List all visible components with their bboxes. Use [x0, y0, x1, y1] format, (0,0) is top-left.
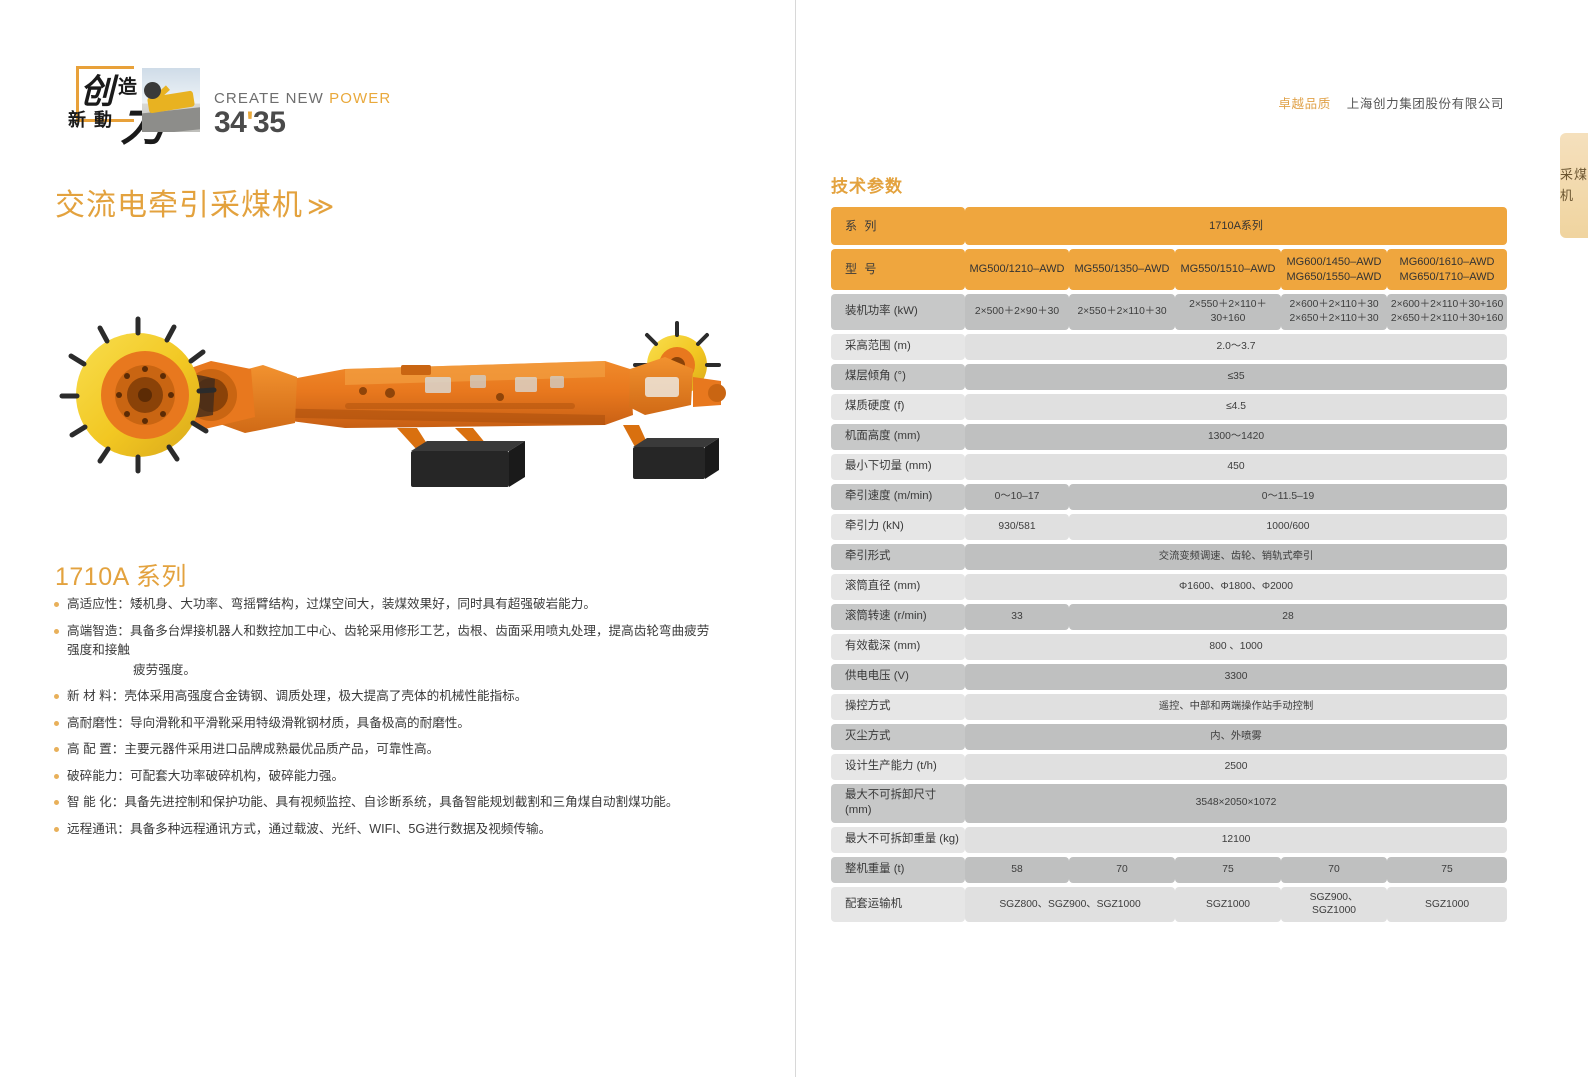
spec-table-row: 灭尘方式内、外喷雾	[831, 724, 1507, 750]
spec-row-label: 有效截深 (mm)	[831, 634, 965, 660]
bullet-dot-icon	[54, 694, 59, 699]
feature-item: 新 材 料：壳体采用高强度合金铸钢、调质处理，极大提高了壳体的机械性能指标。	[54, 687, 714, 707]
logo-calligraphy-mark: 创 造 新 動 力	[58, 62, 200, 140]
spec-row-value: 1300～1420	[965, 424, 1507, 450]
feature-item: 高适应性：矮机身、大功率、弯摇臂结构，过煤空间大，装煤效果好，同时具有超强破岩能…	[54, 595, 714, 615]
spec-model-cell: MG550/1350–AWD	[1069, 249, 1175, 290]
spec-row-value: ≤4.5	[965, 394, 1507, 420]
logo-char-xin: 新	[68, 106, 86, 132]
brand-logo: 创 造 新 動 力 CREATE NEW POWER 34'35	[58, 62, 391, 140]
page-number-right: 35	[253, 106, 285, 139]
spec-table-row: 牵引力 (kN)930/5811000/600	[831, 514, 1507, 540]
feature-item: 高耐磨性：导向滑靴和平滑靴采用特级滑靴钢材质，具备极高的耐磨性。	[54, 714, 714, 734]
spec-table-row: 牵引形式交流变频调速、齿轮、销轨式牵引	[831, 544, 1507, 570]
bullet-dot-icon	[54, 602, 59, 607]
spec-value-series: 1710A系列	[965, 207, 1507, 245]
feature-text: 远程通讯：具备多种远程通讯方式，通过载波、光纤、WIFI、5G进行数据及视频传输…	[67, 820, 714, 840]
bullet-dot-icon	[54, 774, 59, 779]
spread-divider	[795, 0, 796, 1077]
section-tab-shearer[interactable]: 采煤机	[1560, 133, 1588, 238]
bullet-dot-icon	[54, 827, 59, 832]
spec-table-row: 最小下切量 (mm)450	[831, 454, 1507, 480]
spec-row-series: 系 列 1710A系列	[831, 207, 1507, 245]
spec-model-cell: MG600/1610–AWDMG650/1710–AWD	[1387, 249, 1507, 290]
spec-table-row: 整机重量 (t)5870757075	[831, 857, 1507, 883]
bullet-dot-icon	[54, 629, 59, 634]
feature-item: 高端智造：具备多台焊接机器人和数控加工中心、齿轮采用修形工艺，齿根、齿面采用喷丸…	[54, 622, 714, 681]
quality-slogan: 卓越品质	[1278, 97, 1330, 111]
spec-row-label: 操控方式	[831, 694, 965, 720]
spec-table-row: 牵引速度 (m/min)0～10–170～11.5–19	[831, 484, 1507, 510]
spec-row-label: 牵引力 (kN)	[831, 514, 965, 540]
spec-row-label: 滚筒直径 (mm)	[831, 574, 965, 600]
feature-item: 高 配 置：主要元器件采用进口品牌成熟最优品质产品，可靠性高。	[54, 740, 714, 760]
spec-row-value: 450	[965, 454, 1507, 480]
spec-row-label: 灭尘方式	[831, 724, 965, 750]
spec-row-label: 最大不可拆卸尺寸 (mm)	[831, 784, 965, 823]
spec-row-label: 煤层倾角 (°)	[831, 364, 965, 390]
spec-row-label: 牵引形式	[831, 544, 965, 570]
spec-row-value: 2500	[965, 754, 1507, 780]
spec-row-value: 2×550＋2×110＋30+160	[1175, 294, 1281, 330]
shearer-machine-illustration	[45, 265, 745, 500]
feature-text: 智 能 化：具备先进控制和保护功能、具有视频监控、自诊断系统，具备智能规划截割和…	[67, 793, 714, 813]
spec-row-value: 交流变频调速、齿轮、销轨式牵引	[965, 544, 1507, 570]
spec-model-cell: MG600/1450–AWDMG650/1550–AWD	[1281, 249, 1387, 290]
tagline-create: CREATE NEW	[214, 90, 329, 107]
spec-row-value: SGZ1000	[1175, 887, 1281, 923]
spec-table-row: 最大不可拆卸重量 (kg)12100	[831, 827, 1507, 853]
spec-row-label: 煤质硬度 (f)	[831, 394, 965, 420]
spec-row-label: 最小下切量 (mm)	[831, 454, 965, 480]
spec-table-row: 煤质硬度 (f)≤4.5	[831, 394, 1507, 420]
spec-row-label: 采高范围 (m)	[831, 334, 965, 360]
feature-item: 破碎能力：可配套大功率破碎机构，破碎能力强。	[54, 767, 714, 787]
chevron-right-icon: ≫	[307, 191, 335, 221]
spec-row-value: 2×600＋2×110＋30+1602×650＋2×110＋30+160	[1387, 294, 1507, 330]
spec-row-value: 28	[1069, 604, 1507, 630]
spec-row-value: 12100	[965, 827, 1507, 853]
spec-table-row: 机面高度 (mm)1300～1420	[831, 424, 1507, 450]
spec-row-value: 3548×2050×1072	[965, 784, 1507, 823]
spec-table-title: 技术参数	[831, 172, 903, 197]
spec-row-value: 0～10–17	[965, 484, 1069, 510]
bullet-dot-icon	[54, 721, 59, 726]
section-tab-label: 采煤机	[1560, 165, 1588, 205]
spec-row-label: 整机重量 (t)	[831, 857, 965, 883]
spec-row-value: 75	[1175, 857, 1281, 883]
tagline-power: POWER	[329, 90, 391, 107]
feature-text-continued: 疲劳强度。	[67, 661, 714, 681]
catalog-page: 创 造 新 動 力 CREATE NEW POWER 34'35 卓越品质上海创…	[0, 0, 1588, 1077]
spec-row-value: 2×600＋2×110＋302×650＋2×110＋30	[1281, 294, 1387, 330]
spec-row-value: 1000/600	[1069, 514, 1507, 540]
spec-row-value: 内、外喷雾	[965, 724, 1507, 750]
feature-text: 高适应性：矮机身、大功率、弯摇臂结构，过煤空间大，装煤效果好，同时具有超强破岩能…	[67, 595, 714, 615]
spec-row-value: SGZ800、SGZ900、SGZ1000	[965, 887, 1175, 923]
spec-model-cell: MG500/1210–AWD	[965, 249, 1069, 290]
company-name: 上海创力集团股份有限公司	[1347, 97, 1504, 111]
spec-row-label: 设计生产能力 (t/h)	[831, 754, 965, 780]
feature-text: 新 材 料：壳体采用高强度合金铸钢、调质处理，极大提高了壳体的机械性能指标。	[67, 687, 714, 707]
spec-row-value: 2×550＋2×110＋30	[1069, 294, 1175, 330]
spec-row-value: SGZ900、SGZ1000	[1281, 887, 1387, 923]
page-title: 交流电牵引采煤机≫	[55, 180, 335, 224]
spec-table-row: 煤层倾角 (°)≤35	[831, 364, 1507, 390]
spec-row-value: 2.0～3.7	[965, 334, 1507, 360]
logo-photo-thumbnail	[142, 68, 200, 132]
spec-table-row: 设计生产能力 (t/h)2500	[831, 754, 1507, 780]
spec-table-row: 采高范围 (m)2.0～3.7	[831, 334, 1507, 360]
spec-label-model: 型 号	[831, 249, 965, 290]
spec-row-value: 930/581	[965, 514, 1069, 540]
spec-row-value: 遥控、中部和两端操作站手动控制	[965, 694, 1507, 720]
feature-text: 高耐磨性：导向滑靴和平滑靴采用特级滑靴钢材质，具备极高的耐磨性。	[67, 714, 714, 734]
feature-item: 远程通讯：具备多种远程通讯方式，通过载波、光纤、WIFI、5G进行数据及视频传输…	[54, 820, 714, 840]
spec-row-label: 牵引速度 (m/min)	[831, 484, 965, 510]
tagline: CREATE NEW POWER	[214, 90, 391, 107]
spec-row-label: 最大不可拆卸重量 (kg)	[831, 827, 965, 853]
feature-item: 智 能 化：具备先进控制和保护功能、具有视频监控、自诊断系统，具备智能规划截割和…	[54, 793, 714, 813]
spec-table-row: 滚筒转速 (r/min)3328	[831, 604, 1507, 630]
spec-table-row: 配套运输机SGZ800、SGZ900、SGZ1000SGZ1000SGZ900、…	[831, 887, 1507, 923]
logo-tagline-block: CREATE NEW POWER 34'35	[214, 90, 391, 140]
logo-char-dong: 動	[94, 106, 112, 132]
bullet-dot-icon	[54, 800, 59, 805]
spec-row-model: 型 号 MG500/1210–AWDMG550/1350–AWDMG550/15…	[831, 249, 1507, 290]
spec-table-row: 有效截深 (mm)800 、1000	[831, 634, 1507, 660]
spec-row-label: 滚筒转速 (r/min)	[831, 604, 965, 630]
spec-row-value: 800 、1000	[965, 634, 1507, 660]
spec-row-value: SGZ1000	[1387, 887, 1507, 923]
page-number: 34'35	[214, 108, 391, 138]
feature-text: 高端智造：具备多台焊接机器人和数控加工中心、齿轮采用修形工艺，齿根、齿面采用喷丸…	[67, 622, 714, 681]
corporate-line: 卓越品质上海创力集团股份有限公司	[1278, 93, 1504, 112]
series-heading: 1710A 系列	[55, 557, 187, 593]
feature-list: 高适应性：矮机身、大功率、弯摇臂结构，过煤空间大，装煤效果好，同时具有超强破岩能…	[54, 595, 714, 846]
spec-table-body: 系 列 1710A系列 型 号 MG500/1210–AWDMG550/1350…	[831, 207, 1507, 922]
spec-table-row: 滚筒直径 (mm)Φ1600、Φ1800、Φ2000	[831, 574, 1507, 600]
spec-table-row: 操控方式遥控、中部和两端操作站手动控制	[831, 694, 1507, 720]
spec-table-row: 最大不可拆卸尺寸 (mm)3548×2050×1072	[831, 784, 1507, 823]
spec-table: 系 列 1710A系列 型 号 MG500/1210–AWDMG550/1350…	[831, 203, 1507, 926]
feature-text: 高 配 置：主要元器件采用进口品牌成熟最优品质产品，可靠性高。	[67, 740, 714, 760]
spec-model-cell: MG550/1510–AWD	[1175, 249, 1281, 290]
spec-table-row: 装机功率 (kW)2×500＋2×90＋302×550＋2×110＋302×55…	[831, 294, 1507, 330]
spec-row-value: 33	[965, 604, 1069, 630]
spec-row-value: 75	[1387, 857, 1507, 883]
spec-row-label: 供电电压 (V)	[831, 664, 965, 690]
spec-label-series: 系 列	[831, 207, 965, 245]
spec-row-value: ≤35	[965, 364, 1507, 390]
spec-row-value: 70	[1281, 857, 1387, 883]
bullet-dot-icon	[54, 747, 59, 752]
spec-row-value: 0～11.5–19	[1069, 484, 1507, 510]
spec-row-value: 58	[965, 857, 1069, 883]
spec-row-value: 3300	[965, 664, 1507, 690]
product-photo	[45, 265, 745, 500]
page-title-text: 交流电牵引采煤机	[55, 189, 303, 222]
spec-row-value: Φ1600、Φ1800、Φ2000	[965, 574, 1507, 600]
spec-row-label: 配套运输机	[831, 887, 965, 923]
page-number-left: 34	[214, 106, 246, 139]
spec-table-row: 供电电压 (V)3300	[831, 664, 1507, 690]
spec-row-label: 机面高度 (mm)	[831, 424, 965, 450]
feature-text: 破碎能力：可配套大功率破碎机构，破碎能力强。	[67, 767, 714, 787]
spec-row-value: 70	[1069, 857, 1175, 883]
spec-row-label: 装机功率 (kW)	[831, 294, 965, 330]
spec-row-value: 2×500＋2×90＋30	[965, 294, 1069, 330]
